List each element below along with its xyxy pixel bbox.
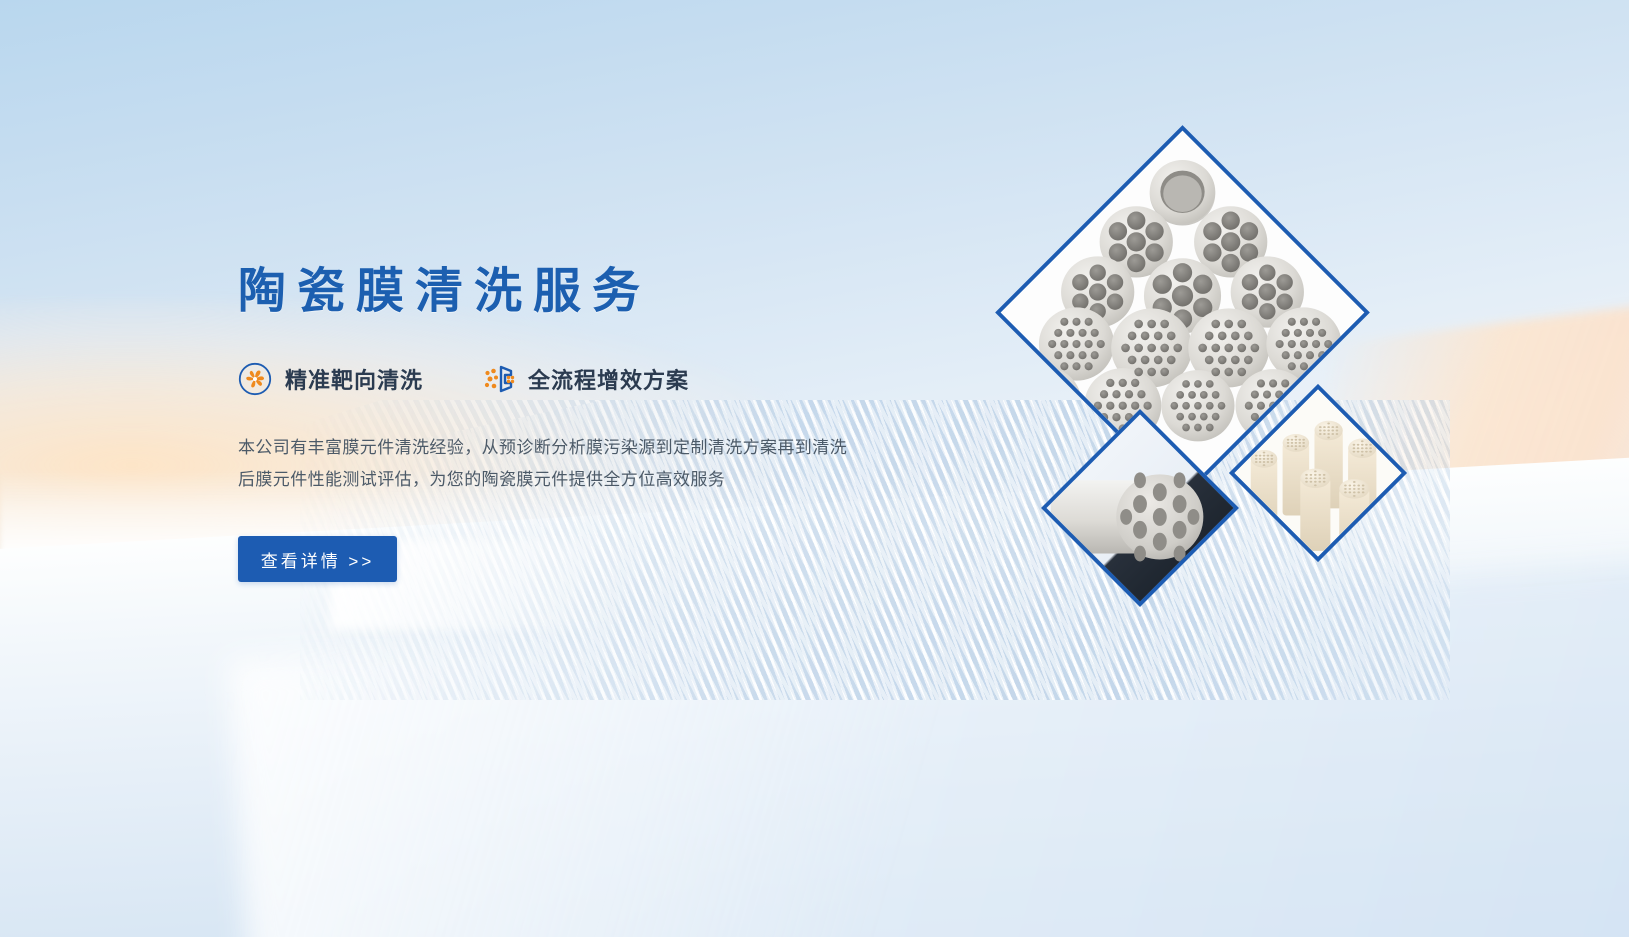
feature-item-full-process-solution: 全流程增效方案 <box>481 362 689 396</box>
hero-content: 陶瓷膜清洗服务 <box>238 262 938 582</box>
feature-item-precision-cleaning: 精准靶向清洗 <box>238 362 423 396</box>
hero-banner: 陶瓷膜清洗服务 <box>0 0 1629 937</box>
feature-label-full-process-solution: 全流程增效方案 <box>528 363 689 395</box>
filter-funnel-icon <box>481 362 515 396</box>
hero-description-line-2: 后膜元件性能测试评估，为您的陶瓷膜元件提供全方位高效服务 <box>238 464 898 496</box>
hero-description-line-1: 本公司有丰富膜元件清洗经验，从预诊断分析膜污染源到定制清洗方案再到清洗 <box>238 432 898 464</box>
page-title: 陶瓷膜清洗服务 <box>238 262 938 322</box>
pinwheel-icon <box>238 362 272 396</box>
feature-list: 精准靶向清洗 <box>238 362 938 396</box>
feature-label-precision-cleaning: 精准靶向清洗 <box>285 363 423 395</box>
hero-description: 本公司有丰富膜元件清洗经验，从预诊断分析膜污染源到定制清洗方案再到清洗 后膜元件… <box>238 432 898 496</box>
media-diamond-group <box>1010 150 1629 670</box>
view-details-button[interactable]: 查看详情 >> <box>238 536 397 582</box>
